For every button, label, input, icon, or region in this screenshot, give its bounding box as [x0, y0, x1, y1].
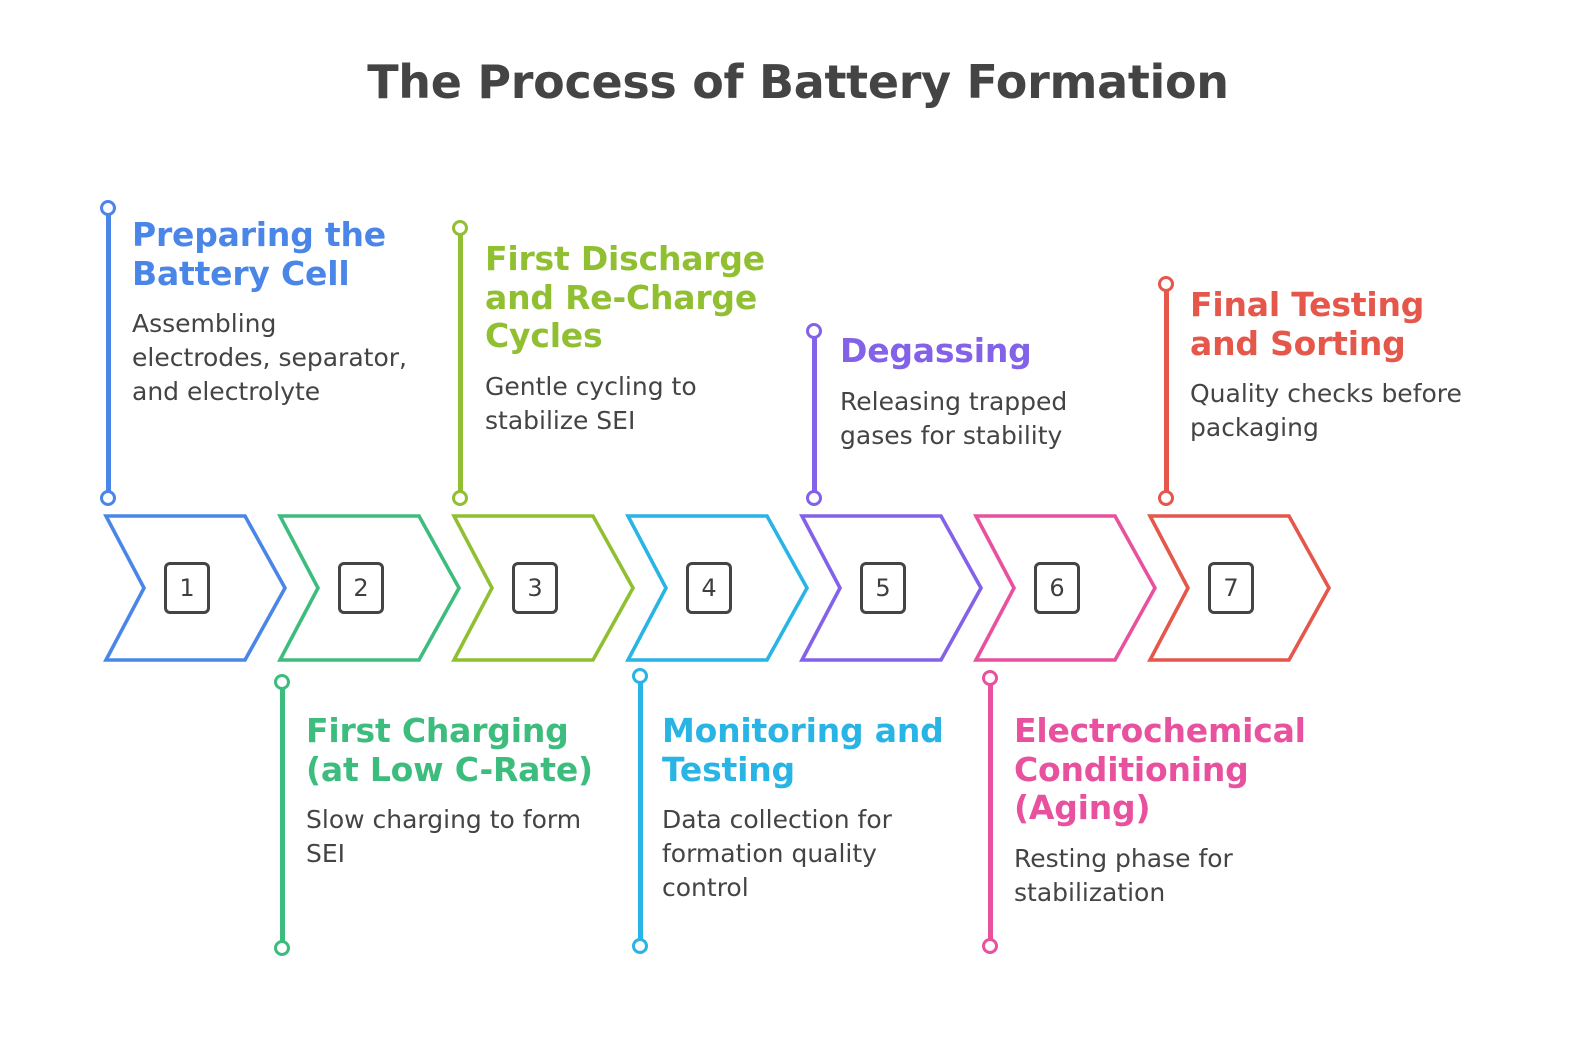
step-text-block-5: DegassingReleasing trapped gases for sta…: [840, 332, 1130, 453]
connector-top-dot-icon: [100, 200, 116, 216]
chevron-step-6[interactable]: 6: [972, 508, 1157, 668]
step-heading: Monitoring and Testing: [662, 712, 962, 789]
chevron-step-7[interactable]: 7: [1146, 508, 1331, 668]
step-number-box: 3: [512, 562, 558, 614]
step-heading: First Charging (at Low C-Rate): [306, 712, 606, 789]
connector-bar: [812, 331, 817, 498]
connector-line-step-1: [100, 208, 116, 498]
step-text-block-2: First Charging (at Low C-Rate)Slow charg…: [306, 712, 606, 871]
chevron-step-3[interactable]: 3: [450, 508, 635, 668]
connector-line-step-3: [452, 228, 468, 498]
step-description: Resting phase for stabilization: [1014, 842, 1354, 910]
step-number-label: 5: [875, 576, 890, 600]
step-number-box: 4: [686, 562, 732, 614]
connector-top-dot-icon: [1158, 276, 1174, 292]
step-description: Assembling electrodes, separator, and el…: [132, 307, 422, 409]
connector-top-dot-icon: [452, 220, 468, 236]
step-number-box: 1: [164, 562, 210, 614]
chevron-step-2[interactable]: 2: [276, 508, 461, 668]
step-number-box: 2: [338, 562, 384, 614]
connector-bar: [458, 228, 463, 498]
connector-bottom-dot-icon: [806, 490, 822, 506]
connector-bottom-dot-icon: [982, 938, 998, 954]
connector-bottom-dot-icon: [100, 490, 116, 506]
step-number-label: 7: [1223, 576, 1238, 600]
step-heading: Preparing the Battery Cell: [132, 216, 422, 293]
chevron-flow-row: 1234567: [0, 508, 1596, 668]
connector-line-step-4: [632, 676, 648, 946]
step-number-label: 1: [179, 576, 194, 600]
connector-bar: [638, 676, 643, 946]
connector-line-step-7: [1158, 284, 1174, 498]
connector-line-step-6: [982, 678, 998, 946]
connector-bar: [1164, 284, 1169, 498]
step-number-label: 3: [527, 576, 542, 600]
connector-top-dot-icon: [806, 323, 822, 339]
connector-top-dot-icon: [632, 668, 648, 684]
step-description: Data collection for formation quality co…: [662, 803, 962, 905]
step-number-box: 6: [1034, 562, 1080, 614]
step-number-label: 4: [701, 576, 716, 600]
connector-line-step-5: [806, 331, 822, 498]
step-number-box: 5: [860, 562, 906, 614]
step-description: Slow charging to form SEI: [306, 803, 606, 871]
step-description: Releasing trapped gases for stability: [840, 385, 1130, 453]
step-heading: First Discharge and Re-Charge Cycles: [485, 240, 785, 356]
step-description: Gentle cycling to stabilize SEI: [485, 370, 785, 438]
page-title: The Process of Battery Formation: [0, 55, 1596, 109]
connector-top-dot-icon: [274, 674, 290, 690]
connector-bar: [988, 678, 993, 946]
connector-top-dot-icon: [982, 670, 998, 686]
step-heading: Degassing: [840, 332, 1130, 371]
connector-bottom-dot-icon: [1158, 490, 1174, 506]
connector-bottom-dot-icon: [274, 940, 290, 956]
step-description: Quality checks before packaging: [1190, 377, 1480, 445]
step-text-block-4: Monitoring and TestingData collection fo…: [662, 712, 962, 905]
connector-bottom-dot-icon: [452, 490, 468, 506]
step-number-label: 2: [353, 576, 368, 600]
chevron-step-4[interactable]: 4: [624, 508, 809, 668]
step-heading: Electrochemical Conditioning (Aging): [1014, 712, 1354, 828]
chevron-step-5[interactable]: 5: [798, 508, 983, 668]
step-number-label: 6: [1049, 576, 1064, 600]
connector-bar: [106, 208, 111, 498]
step-text-block-1: Preparing the Battery CellAssembling ele…: [132, 216, 422, 409]
connector-line-step-2: [274, 682, 290, 948]
connector-bar: [280, 682, 285, 948]
connector-bottom-dot-icon: [632, 938, 648, 954]
step-heading: Final Testing and Sorting: [1190, 286, 1480, 363]
step-text-block-7: Final Testing and SortingQuality checks …: [1190, 286, 1480, 445]
step-text-block-6: Electrochemical Conditioning (Aging)Rest…: [1014, 712, 1354, 910]
chevron-step-1[interactable]: 1: [102, 508, 287, 668]
step-text-block-3: First Discharge and Re-Charge CyclesGent…: [485, 240, 785, 438]
step-number-box: 7: [1208, 562, 1254, 614]
